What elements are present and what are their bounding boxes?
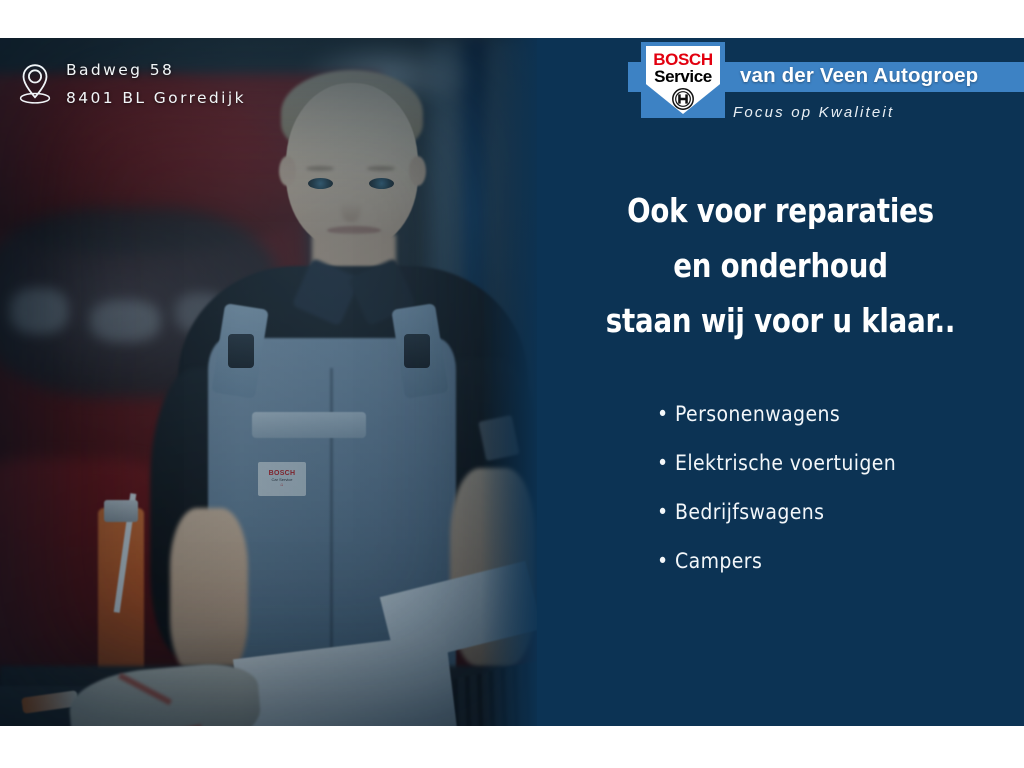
headline: Ook voor reparaties en onderhoud staan w… <box>554 183 1007 348</box>
workshop-photo: BOSCH Car Service ⌂ <box>0 38 537 726</box>
list-item: •Campers <box>657 537 896 586</box>
service-label: Campers <box>675 549 762 573</box>
service-label: Elektrische voertuigen <box>675 451 896 475</box>
headline-line-1: Ook voor reparaties <box>554 183 1007 238</box>
bosch-armature-icon <box>671 87 695 111</box>
photo-vignette <box>0 38 537 726</box>
address-text: Badweg 58 8401 BL Gorredijk <box>66 56 246 112</box>
services-list: •Personenwagens •Elektrische voertuigen … <box>657 390 896 586</box>
company-tagline: Focus op Kwaliteit <box>733 104 894 121</box>
address-line-2: 8401 BL Gorredijk <box>66 84 246 112</box>
promo-banner: BOSCH Car Service ⌂ <box>0 38 1024 726</box>
bullet-icon: • <box>657 537 675 586</box>
company-name: van der Veen Autogroep <box>740 64 978 88</box>
bosch-service-wordmark: Service <box>646 67 720 87</box>
headline-line-2: en onderhoud <box>554 238 1007 293</box>
bullet-icon: • <box>657 488 675 537</box>
headline-line-3: staan wij voor u klaar.. <box>554 293 1007 348</box>
list-item: •Bedrijfswagens <box>657 488 896 537</box>
address-line-1: Badweg 58 <box>66 56 246 84</box>
bosch-service-logo[interactable]: BOSCH Service <box>641 42 725 118</box>
address-block: Badweg 58 8401 BL Gorredijk <box>18 56 246 112</box>
service-label: Bedrijfswagens <box>675 500 824 524</box>
location-pin-icon <box>18 63 52 105</box>
service-label: Personenwagens <box>675 402 840 426</box>
bullet-icon: • <box>657 390 675 439</box>
info-panel: BOSCH Service van der Veen Autogroep Foc… <box>537 38 1024 726</box>
list-item: •Elektrische voertuigen <box>657 439 896 488</box>
list-item: •Personenwagens <box>657 390 896 439</box>
photo-right-fade <box>481 38 537 726</box>
bullet-icon: • <box>657 439 675 488</box>
